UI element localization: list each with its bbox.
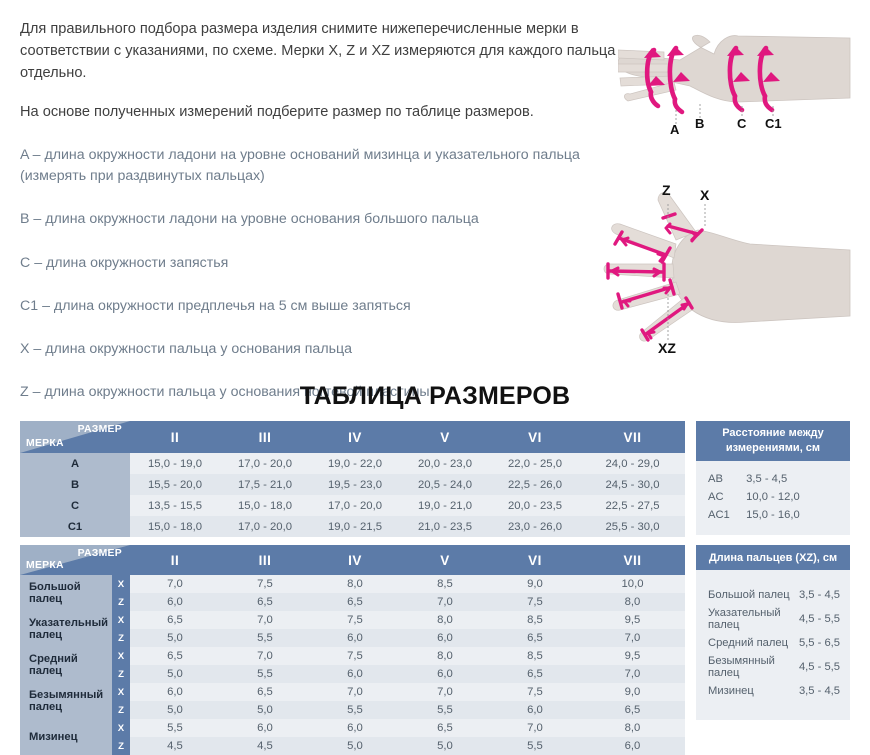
table1-c-vii: 22,5 - 27,5: [580, 495, 685, 516]
table2-middle-z-vi: 6,5: [490, 665, 580, 683]
table1-c1-vii: 25,5 - 30,0: [580, 516, 685, 537]
table2-group-label-ring: Безымянный палец: [20, 683, 112, 719]
table2-thumb-z-v: 7,0: [400, 593, 490, 611]
table2-little-z-iv: 5,0: [310, 737, 400, 755]
panel2-val-ring: 4,5 - 5,5: [799, 652, 840, 682]
panel2-key-index: Указательный палец: [708, 604, 799, 634]
table2-index-x-ii: 6,5: [130, 611, 220, 629]
table-row: Мизинец X 5,5 6,0 6,0 6,5 7,0 8,0: [20, 719, 685, 737]
table2-middle-x-key: X: [112, 647, 130, 665]
panel2-val-index: 4,5 - 5,5: [799, 604, 840, 634]
table1-size-iv: IV: [310, 421, 400, 453]
list-item: AB 3,5 - 4,5: [708, 470, 840, 488]
table1-b-vii: 24,5 - 30,0: [580, 474, 685, 495]
table1-a-iii: 17,0 - 20,0: [220, 453, 310, 474]
table1-row-label-a: A: [20, 453, 130, 474]
panel1-key-ab: AB: [708, 470, 746, 488]
table-row: Z 6,0 6,5 6,5 7,0 7,5 8,0: [20, 593, 685, 611]
panel2-val-middle: 5,5 - 6,5: [799, 634, 840, 652]
table2-little-x-vi: 7,0: [490, 719, 580, 737]
table2-index-z-iv: 6,0: [310, 629, 400, 647]
table2-little-x-iii: 6,0: [220, 719, 310, 737]
definition-b: B – длина окружности ладони на уровне ос…: [20, 209, 620, 230]
table2-middle-z-key: Z: [112, 665, 130, 683]
table1-b-iii: 17,5 - 21,0: [220, 474, 310, 495]
table1-c-vi: 20,0 - 23,5: [490, 495, 580, 516]
table2-little-z-iii: 4,5: [220, 737, 310, 755]
table2-group-label-index: Указательный палец: [20, 611, 112, 647]
list-item: Мизинец 3,5 - 4,5: [708, 682, 840, 700]
table2-middle-x-iii: 7,0: [220, 647, 310, 665]
distance-between-measurements-panel: Расстояние между измерениями, см AB 3,5 …: [696, 421, 850, 532]
table-row: Z 5,0 5,0 5,5 5,5 6,0 6,5: [20, 701, 685, 719]
table2-ring-x-key: X: [112, 683, 130, 701]
definition-c: C – длина окружности запястья: [20, 253, 620, 274]
table2-little-x-key: X: [112, 719, 130, 737]
table2-ring-z-vi: 6,0: [490, 701, 580, 719]
table2-ring-x-ii: 6,0: [130, 683, 220, 701]
table2-middle-x-vi: 8,5: [490, 647, 580, 665]
table2-middle-x-vii: 9,5: [580, 647, 685, 665]
table2-index-x-vi: 8,5: [490, 611, 580, 629]
table1-a-ii: 15,0 - 19,0: [130, 453, 220, 474]
table2-little-x-v: 6,5: [400, 719, 490, 737]
panel1-body: AB 3,5 - 4,5 AC 10,0 - 12,0 AC1 15,0 - 1…: [696, 461, 850, 535]
table1-row-label-c: C: [20, 495, 130, 516]
definition-c1: C1 – длина окружности предплечья на 5 см…: [20, 296, 620, 317]
table2-group-label-thumb: Большой палец: [20, 575, 112, 611]
definition-x: X – длина окружности пальца у основания …: [20, 339, 620, 360]
table1-size-ii: II: [130, 421, 220, 453]
panel2-key-middle: Средний палец: [708, 634, 799, 652]
table1-header-row: РАЗМЕР МЕРКА II III IV V VI VII: [20, 421, 685, 453]
list-item: Указательный палец 4,5 - 5,5: [708, 604, 840, 634]
panel2-val-little: 3,5 - 4,5: [799, 682, 840, 700]
size-table-1-grid: РАЗМЕР МЕРКА II III IV V VI VII A 15,0 -…: [20, 421, 685, 537]
table2-ring-x-v: 7,0: [400, 683, 490, 701]
table2-middle-x-ii: 6,5: [130, 647, 220, 665]
table2-middle-x-iv: 7,5: [310, 647, 400, 665]
panel2-key-little: Мизинец: [708, 682, 799, 700]
table1-c1-v: 21,0 - 23,5: [400, 516, 490, 537]
table1-a-v: 20,0 - 23,0: [400, 453, 490, 474]
table2-thumb-z-key: Z: [112, 593, 130, 611]
table2-index-z-vi: 6,5: [490, 629, 580, 647]
table1-b-iv: 19,5 - 23,0: [310, 474, 400, 495]
table-row: Z 5,0 5,5 6,0 6,0 6,5 7,0: [20, 629, 685, 647]
table2-little-x-vii: 8,0: [580, 719, 685, 737]
table2-middle-z-vii: 7,0: [580, 665, 685, 683]
table2-little-x-iv: 6,0: [310, 719, 400, 737]
table2-size-iv: IV: [310, 545, 400, 575]
table2-size-vi: VI: [490, 545, 580, 575]
table1-b-ii: 15,5 - 20,0: [130, 474, 220, 495]
table2-index-x-iv: 7,5: [310, 611, 400, 629]
table1-c-v: 19,0 - 21,0: [400, 495, 490, 516]
panel2-grid: Большой палец 3,5 - 4,5 Указательный пал…: [708, 586, 840, 700]
table2-size-ii: II: [130, 545, 220, 575]
table2-little-z-v: 5,0: [400, 737, 490, 755]
list-item: Большой палец 3,5 - 4,5: [708, 586, 840, 604]
table1-c1-iv: 19,0 - 21,5: [310, 516, 400, 537]
table2-ring-z-iii: 5,0: [220, 701, 310, 719]
panel2-key-thumb: Большой палец: [708, 586, 799, 604]
table2-index-z-ii: 5,0: [130, 629, 220, 647]
hand-diagram-abc-illustration: A B C C1: [618, 6, 870, 156]
table1-size-vi: VI: [490, 421, 580, 453]
hand-abc-svg: [618, 6, 870, 156]
table1-row-label-b: B: [20, 474, 130, 495]
table2-thumb-x-iii: 7,5: [220, 575, 310, 593]
table2-thumb-x-iv: 8,0: [310, 575, 400, 593]
table1-c1-ii: 15,0 - 18,0: [130, 516, 220, 537]
table1-size-vii: VII: [580, 421, 685, 453]
finger-length-panel: Длина пальцев (XZ), см Большой палец 3,5…: [696, 545, 850, 720]
table2-index-x-iii: 7,0: [220, 611, 310, 629]
table-row: Безымянный палец X 6,0 6,5 7,0 7,0 7,5 9…: [20, 683, 685, 701]
table2-little-x-ii: 5,5: [130, 719, 220, 737]
table2-index-z-iii: 5,5: [220, 629, 310, 647]
table2-little-z-ii: 4,5: [130, 737, 220, 755]
table2-size-vii: VII: [580, 545, 685, 575]
table2-thumb-z-iii: 6,5: [220, 593, 310, 611]
table1-a-vi: 22,0 - 25,0: [490, 453, 580, 474]
table1-size-iii: III: [220, 421, 310, 453]
table1-c-iv: 17,0 - 20,0: [310, 495, 400, 516]
size-table-2-grid: РАЗМЕР МЕРКА II III IV V VI VII Большой …: [20, 545, 685, 755]
table-row: Z 5,0 5,5 6,0 6,0 6,5 7,0: [20, 665, 685, 683]
table1-c-iii: 15,0 - 18,0: [220, 495, 310, 516]
table-row: Z 4,5 4,5 5,0 5,0 5,5 6,0: [20, 737, 685, 755]
table2-little-z-vi: 5,5: [490, 737, 580, 755]
list-item: AC1 15,0 - 16,0: [708, 506, 840, 524]
panel1-val-ac: 10,0 - 12,0: [746, 488, 840, 506]
table2-ring-z-ii: 5,0: [130, 701, 220, 719]
size-table-2: РАЗМЕР МЕРКА II III IV V VI VII Большой …: [20, 545, 685, 755]
table2-group-label-middle: Средний палец: [20, 647, 112, 683]
table-row: B 15,5 - 20,0 17,5 - 21,0 19,5 - 23,0 20…: [20, 474, 685, 495]
intro-paragraph-1: Для правильного подбора размера изделия …: [20, 18, 620, 85]
leader-lines: [676, 104, 773, 124]
table-row: A 15,0 - 19,0 17,0 - 20,0 19,0 - 22,0 20…: [20, 453, 685, 474]
table2-group-label-little: Мизинец: [20, 719, 112, 755]
panel1-val-ab: 3,5 - 4,5: [746, 470, 840, 488]
panel2-val-thumb: 3,5 - 4,5: [799, 586, 840, 604]
table2-index-z-key: Z: [112, 629, 130, 647]
table2-middle-z-ii: 5,0: [130, 665, 220, 683]
table1-size-v: V: [400, 421, 490, 453]
table2-little-z-vii: 6,0: [580, 737, 685, 755]
table-row: C 13,5 - 15,5 15,0 - 18,0 17,0 - 20,0 19…: [20, 495, 685, 516]
list-item: Средний палец 5,5 - 6,5: [708, 634, 840, 652]
table-row: Указательный палец X 6,5 7,0 7,5 8,0 8,5…: [20, 611, 685, 629]
table2-ring-x-vii: 9,0: [580, 683, 685, 701]
table2-index-x-v: 8,0: [400, 611, 490, 629]
corner-measure-label: МЕРКА: [26, 438, 64, 449]
table2-ring-z-iv: 5,5: [310, 701, 400, 719]
panel1-val-ac1: 15,0 - 16,0: [746, 506, 840, 524]
table2-index-x-key: X: [112, 611, 130, 629]
table-row: C1 15,0 - 18,0 17,0 - 20,0 19,0 - 21,5 2…: [20, 516, 685, 537]
table2-ring-z-key: Z: [112, 701, 130, 719]
corner-measure-label: МЕРКА: [26, 560, 64, 571]
table1-b-v: 20,5 - 24,0: [400, 474, 490, 495]
table1-b-vi: 22,5 - 26,0: [490, 474, 580, 495]
table2-middle-z-v: 6,0: [400, 665, 490, 683]
definition-a: A – длина окружности ладони на уровне ос…: [20, 145, 620, 188]
table2-ring-x-vi: 7,5: [490, 683, 580, 701]
panel1-grid: AB 3,5 - 4,5 AC 10,0 - 12,0 AC1 15,0 - 1…: [708, 470, 840, 524]
list-item: AC 10,0 - 12,0: [708, 488, 840, 506]
table2-thumb-x-vi: 9,0: [490, 575, 580, 593]
corner-size-label: РАЗМЕР: [78, 548, 122, 559]
table2-middle-z-iv: 6,0: [310, 665, 400, 683]
table2-header-row: РАЗМЕР МЕРКА II III IV V VI VII: [20, 545, 685, 575]
panel2-title: Длина пальцев (XZ), см: [696, 545, 850, 570]
table2-thumb-x-vii: 10,0: [580, 575, 685, 593]
hand-diagram-xz-illustration: Z X XZ: [600, 182, 870, 364]
table2-size-iii: III: [220, 545, 310, 575]
finger-2: [618, 64, 668, 72]
table2-ring-z-vii: 6,5: [580, 701, 685, 719]
table2-thumb-x-key: X: [112, 575, 130, 593]
panel1-key-ac: AC: [708, 488, 746, 506]
table2-thumb-x-ii: 7,0: [130, 575, 220, 593]
table2-corner-cell: РАЗМЕР МЕРКА: [20, 545, 130, 575]
panel2-body: Большой палец 3,5 - 4,5 Указательный пал…: [696, 570, 850, 720]
table2-thumb-z-iv: 6,5: [310, 593, 400, 611]
table2-index-x-vii: 9,5: [580, 611, 685, 629]
table2-thumb-x-v: 8,5: [400, 575, 490, 593]
table2-little-z-key: Z: [112, 737, 130, 755]
table1-c1-vi: 23,0 - 26,0: [490, 516, 580, 537]
table-row: Средний палец X 6,5 7,0 7,5 8,0 8,5 9,5: [20, 647, 685, 665]
table1-a-vii: 24,0 - 29,0: [580, 453, 685, 474]
table2-ring-x-iii: 6,5: [220, 683, 310, 701]
table1-c-ii: 13,5 - 15,5: [130, 495, 220, 516]
table2-index-z-vii: 7,0: [580, 629, 685, 647]
panel1-key-ac1: AC1: [708, 506, 746, 524]
table1-row-label-c1: C1: [20, 516, 130, 537]
list-item: Безымянный палец 4,5 - 5,5: [708, 652, 840, 682]
table2-middle-z-iii: 5,5: [220, 665, 310, 683]
table1-c1-iii: 17,0 - 20,0: [220, 516, 310, 537]
table1-a-iv: 19,0 - 22,0: [310, 453, 400, 474]
table2-size-v: V: [400, 545, 490, 575]
table1-corner-cell: РАЗМЕР МЕРКА: [20, 421, 130, 453]
table2-thumb-z-vii: 8,0: [580, 593, 685, 611]
table2-thumb-z-ii: 6,0: [130, 593, 220, 611]
corner-size-label: РАЗМЕР: [78, 424, 122, 435]
table-row: Большой палец X 7,0 7,5 8,0 8,5 9,0 10,0: [20, 575, 685, 593]
page-title: ТАБЛИЦА РАЗМЕРОВ: [0, 382, 870, 411]
size-table-1: РАЗМЕР МЕРКА II III IV V VI VII A 15,0 -…: [20, 421, 685, 537]
panel2-key-ring: Безымянный палец: [708, 652, 799, 682]
table2-thumb-z-vi: 7,5: [490, 593, 580, 611]
table2-ring-x-iv: 7,0: [310, 683, 400, 701]
table2-middle-x-v: 8,0: [400, 647, 490, 665]
panel1-title: Расстояние между измерениями, см: [696, 421, 850, 461]
intro-paragraph-2: На основе полученных измерений подберите…: [20, 101, 620, 123]
table2-index-z-v: 6,0: [400, 629, 490, 647]
table2-ring-z-v: 5,5: [400, 701, 490, 719]
hand-xz-svg: [600, 182, 870, 364]
palm-shape: [672, 230, 850, 323]
